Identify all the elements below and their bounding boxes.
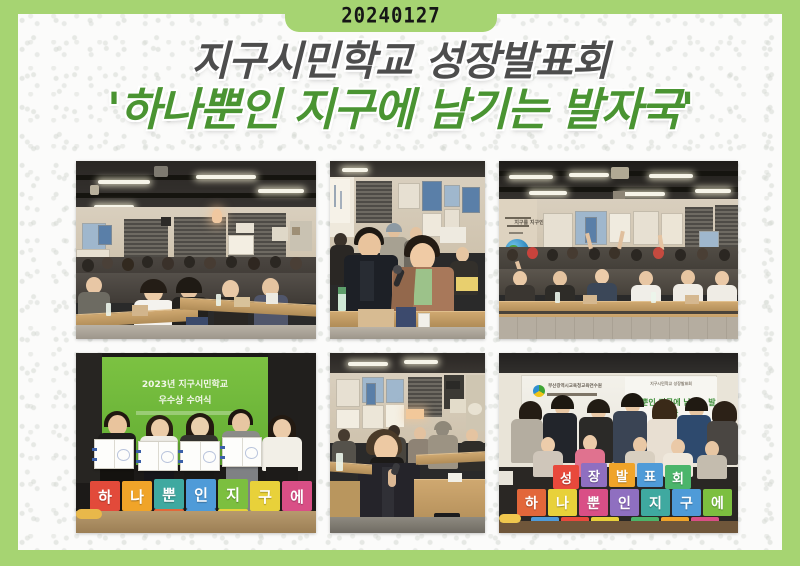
page-title-primary: 지구시민학교 성장발표회 <box>0 40 800 83</box>
poster-canvas: 20240127 지구시민학교 성장발표회 '하나뿐인 지구에 남기는 발자국' <box>0 0 800 566</box>
title-block: 지구시민학교 성장발표회 '하나뿐인 지구에 남기는 발자국' <box>0 40 800 133</box>
photo6-banner-org: 부산광역시교육청교육연수원 <box>527 383 623 389</box>
photo-group-raised-hands: 지구를 지구인 <box>499 161 738 339</box>
photo-award-ceremony: 2023년 지구시민학교 우수상 수여식 <box>76 353 316 533</box>
photo-grid: 지구를 지구인 <box>76 161 724 541</box>
date-badge: 20240127 <box>285 0 497 32</box>
photo-group-letter-blocks: 부산광역시교육청교육연수원 지구시민학교 성장발표회 하나뿐인 지구에 남기는 … <box>499 353 738 533</box>
photo4-screen-line1: 2023년 지구시민학교 <box>102 377 268 390</box>
photo-attendee-speaking <box>330 353 485 533</box>
photo-seminar-audience-wide <box>76 161 316 339</box>
photo4-screen-line2: 우수상 수여식 <box>102 393 268 406</box>
page-title-secondary: '하나뿐인 지구에 남기는 발자국' <box>0 87 800 134</box>
photo-participant-speaking-microphone <box>330 161 485 339</box>
date-badge-text: 20240127 <box>341 4 441 29</box>
